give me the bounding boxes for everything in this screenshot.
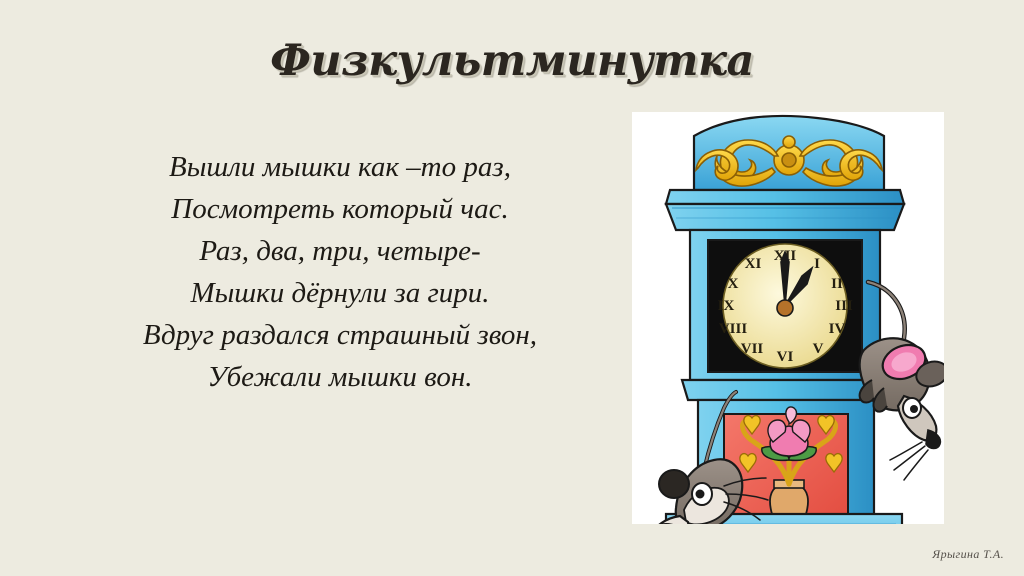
clock-head: XII I II III IV V VI VII VIII IX X XI xyxy=(690,230,880,380)
clock-waist-molding xyxy=(682,380,888,400)
svg-text:VII: VII xyxy=(741,341,764,357)
poem-line: Посмотреть который час. xyxy=(40,188,640,230)
clock-crown xyxy=(694,116,884,190)
mouse-lower-ear xyxy=(659,470,689,498)
slide-root: Физкультминутка Вышли мышки как –то раз,… xyxy=(0,0,1024,576)
svg-text:II: II xyxy=(831,276,843,292)
page-title: Физкультминутка xyxy=(0,36,1024,86)
svg-text:X: X xyxy=(728,276,739,292)
author-signature: Ярыгина Т.А. xyxy=(932,547,1004,562)
poem-line: Мышки дёрнули за гири. xyxy=(40,272,640,314)
poem-line: Убежали мышки вон. xyxy=(40,356,640,398)
svg-text:III: III xyxy=(835,298,853,314)
poem-line: Вдруг раздался страшный звон, xyxy=(40,314,640,356)
poem-block: Вышли мышки как –то раз, Посмотреть кото… xyxy=(40,146,640,398)
svg-text:XI: XI xyxy=(745,256,762,272)
clock-illustration-panel: XII I II III IV V VI VII VIII IX X XI xyxy=(632,112,944,524)
svg-text:V: V xyxy=(813,341,824,357)
svg-text:IV: IV xyxy=(829,321,846,337)
svg-text:VIII: VIII xyxy=(719,321,748,337)
poem-line: Вышли мышки как –то раз, xyxy=(40,146,640,188)
svg-text:I: I xyxy=(814,256,820,272)
clock-center-pin xyxy=(777,300,793,316)
svg-text:IX: IX xyxy=(718,298,735,314)
clock-cornice xyxy=(666,190,904,230)
grandfather-clock-illustration: XII I II III IV V VI VII VIII IX X XI xyxy=(632,112,944,524)
svg-text:VI: VI xyxy=(777,349,794,365)
poem-line: Раз, два, три, четыре- xyxy=(40,230,640,272)
